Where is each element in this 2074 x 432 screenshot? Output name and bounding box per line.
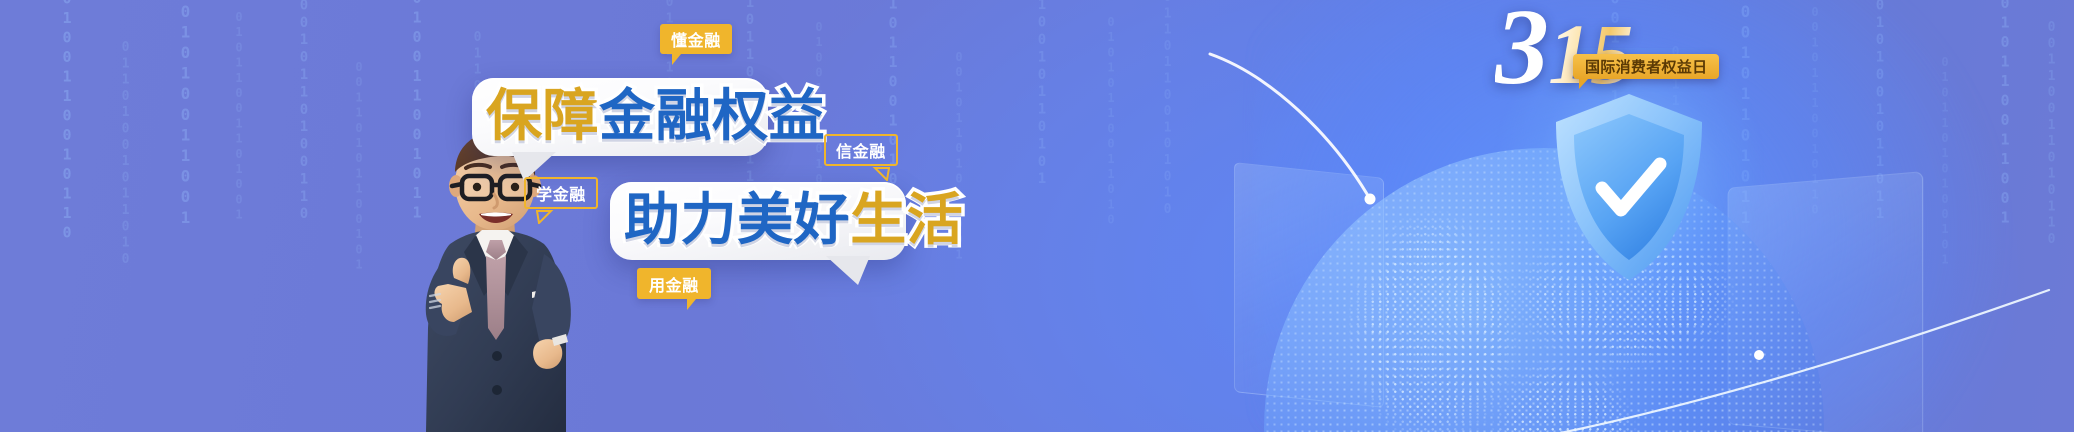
tag-dong-tail xyxy=(672,54,681,65)
tag-xue-label: 学金融 xyxy=(536,181,586,205)
tag-dong-jinrong[interactable]: 懂金融 xyxy=(660,24,732,54)
tag-yong-tail xyxy=(687,299,696,310)
tag-dong-label: 懂金融 xyxy=(671,27,721,51)
tag-yong-label: 用金融 xyxy=(649,272,699,296)
logo-digit-3: 3 xyxy=(1495,0,1548,107)
headline-line-1-blue: 金融权益 xyxy=(599,84,825,147)
logo-315-number: 315 xyxy=(1495,0,1632,102)
binary-stream: 10110010110101 xyxy=(1034,0,1050,189)
binary-stream: 10010110100110 xyxy=(296,0,312,224)
tag-xue-tail xyxy=(536,210,554,224)
headline-line-2-gold: 生活 xyxy=(850,188,963,251)
tag-xin-jinrong[interactable]: 信金融 xyxy=(824,134,898,166)
binary-stream: 11001010011001 xyxy=(176,0,195,228)
binary-stream: 01101001011010 xyxy=(118,40,133,268)
businessman-thumbs-up-icon xyxy=(380,128,610,432)
binary-stream: 00110101100101 xyxy=(352,60,366,273)
banner-root: 1010011001011001101001011010110010100110… xyxy=(0,0,2074,432)
bubble-2-tail xyxy=(824,256,872,286)
headline-line-2: 助力美好生活 xyxy=(624,192,963,248)
headline-line-1: 保障金融权益 xyxy=(486,88,825,144)
binary-stream: 01011001101001 xyxy=(232,10,246,223)
headline-line-1-gold: 保障 xyxy=(486,84,599,147)
logo-ribbon: 国际消费者权益日 xyxy=(1573,54,1719,79)
tag-xin-tail xyxy=(872,167,890,181)
logo-ribbon-tail xyxy=(1579,79,1588,89)
logo-315: 315 国际消费者权益日 xyxy=(1495,0,1765,102)
binary-stream: 10100110010110 xyxy=(58,0,76,243)
headline-line-2-blue: 助力美好 xyxy=(624,188,850,251)
shield-check-icon xyxy=(1544,88,1714,288)
logo-ribbon-label: 国际消费者权益日 xyxy=(1585,56,1707,77)
tag-yong-jinrong[interactable]: 用金融 xyxy=(637,268,711,299)
tag-xin-label: 信金融 xyxy=(836,138,886,162)
tag-xue-jinrong[interactable]: 学金融 xyxy=(524,177,598,209)
